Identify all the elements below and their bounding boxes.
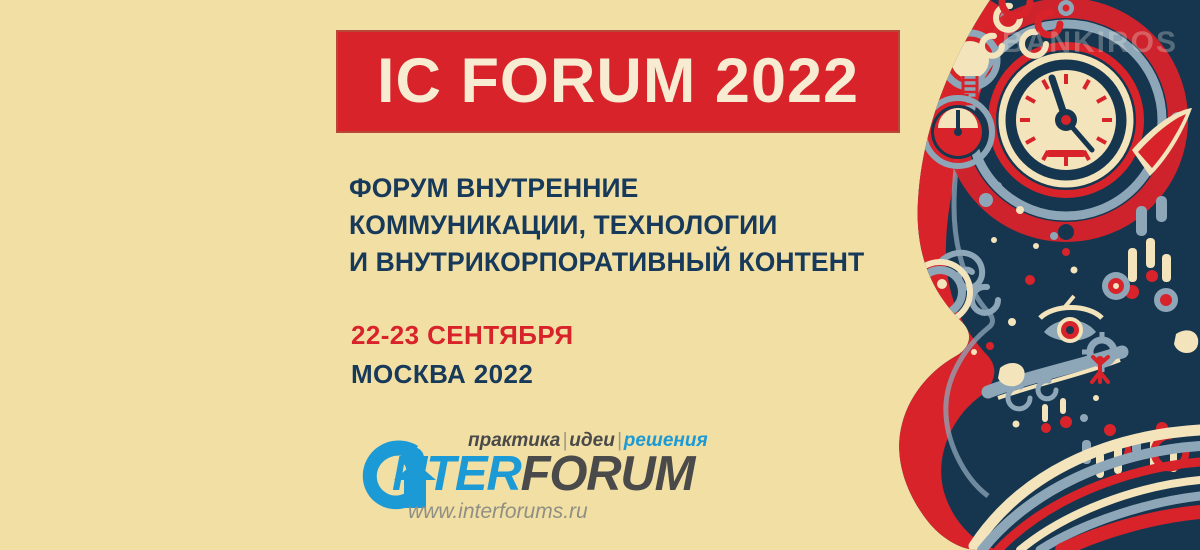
- page-title: IC FORUM 2022: [377, 50, 859, 113]
- subtitle-line-3: И ВНУТРИКОРПОРАТИВНЫЙ КОНТЕНТ: [349, 244, 864, 281]
- event-subtitle: ФОРУМ ВНУТРЕННИЕ КОММУНИКАЦИИ, ТЕХНОЛОГИ…: [349, 170, 864, 281]
- interforum-logo[interactable]: практика|идеи|решения NTERFORUM www.inte…: [358, 428, 728, 533]
- event-city: МОСКВА 2022: [351, 359, 533, 390]
- logo-wordmark: NTERFORUM: [392, 450, 694, 499]
- event-banner: BANKIROS IC FORUM 2022 ФОРУМ ВНУТРЕННИЕ …: [0, 0, 1200, 550]
- subtitle-line-2: КОММУНИКАЦИИ, ТЕХНОЛОГИИ: [349, 207, 864, 244]
- event-date: 22-23 СЕНТЯБРЯ: [351, 320, 574, 351]
- logo-wordmark-forum: FORUM: [521, 447, 695, 501]
- event-title-box: IC FORUM 2022: [336, 30, 900, 133]
- logo-wordmark-inter: NTER: [392, 447, 521, 501]
- logo-website-url[interactable]: www.interforums.ru: [408, 500, 588, 524]
- steampunk-head-illustration: [870, 0, 1200, 550]
- subtitle-line-1: ФОРУМ ВНУТРЕННИЕ: [349, 170, 864, 207]
